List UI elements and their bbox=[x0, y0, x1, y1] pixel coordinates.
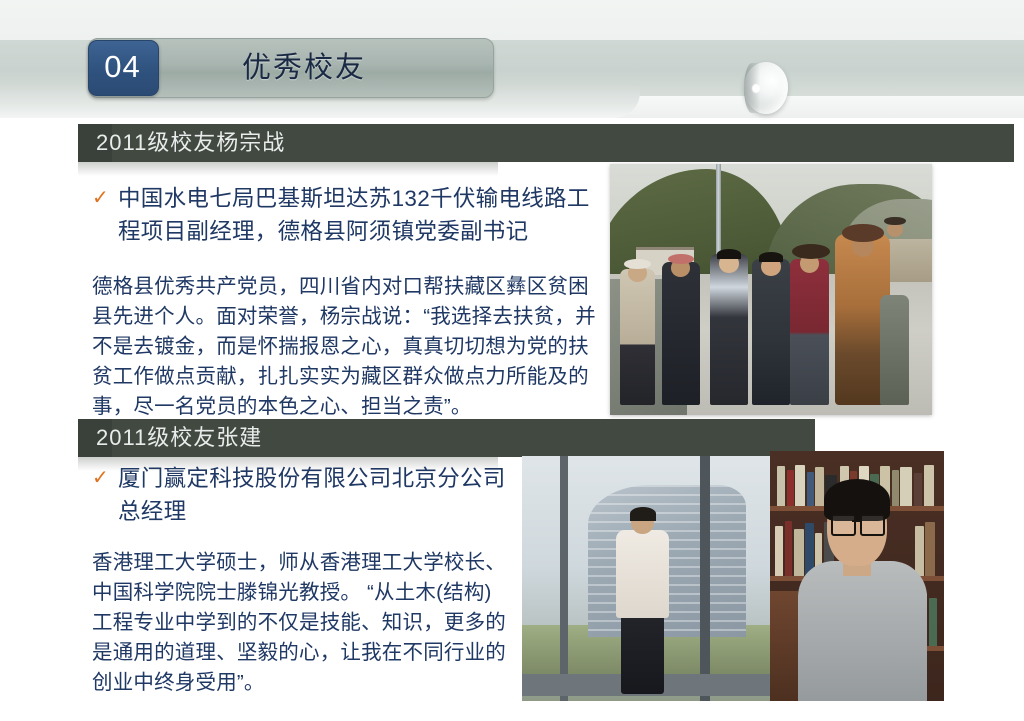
alumnus-2-bullet-text: 厦门赢定科技股份有限公司北京分公司总经理 bbox=[118, 462, 522, 528]
alumnus-2-bullet-row: ✓ 厦门赢定科技股份有限公司北京分公司总经理 bbox=[92, 462, 522, 528]
alumnus-1-paragraph: 德格县优秀共产党员，四川省内对口帮扶藏区彝区贫困县先进个人。面对荣誉，杨宗战说：… bbox=[92, 272, 604, 422]
group-photo-mountain-road bbox=[610, 164, 932, 415]
alumnus-2-paragraph: 香港理工大学硕士，师从香港理工大学校长、中国科学院院士滕锦光教授。 “从土木(结… bbox=[92, 548, 512, 698]
check-icon: ✓ bbox=[92, 462, 118, 494]
alumnus-1-bullet-text: 中国水电七局巴基斯坦达苏132千伏输电线路工程项目副经理，德格县阿须镇党委副书记 bbox=[118, 182, 602, 248]
water-drop-highlight bbox=[752, 84, 760, 93]
alumnus-1-header: 2011级校友杨宗战 bbox=[96, 124, 285, 162]
page-title: 优秀校友 bbox=[242, 46, 502, 90]
section-number-label: 04 bbox=[88, 40, 157, 94]
alumnus-2-header: 2011级校友张建 bbox=[96, 419, 262, 457]
background-top-strip bbox=[0, 0, 1024, 40]
slide-root: 优秀校友 04 2011级校友杨宗战 ✓ 中国水电七局巴基斯坦达苏132千伏输电… bbox=[0, 0, 1024, 721]
portrait-window-building bbox=[522, 456, 776, 701]
portrait-bookshelf bbox=[770, 451, 944, 701]
alumnus-1-bullet-row: ✓ 中国水电七局巴基斯坦达苏132千伏输电线路工程项目副经理，德格县阿须镇党委副… bbox=[92, 182, 602, 248]
section-header-shadow-1 bbox=[78, 162, 498, 176]
check-icon: ✓ bbox=[92, 182, 118, 214]
